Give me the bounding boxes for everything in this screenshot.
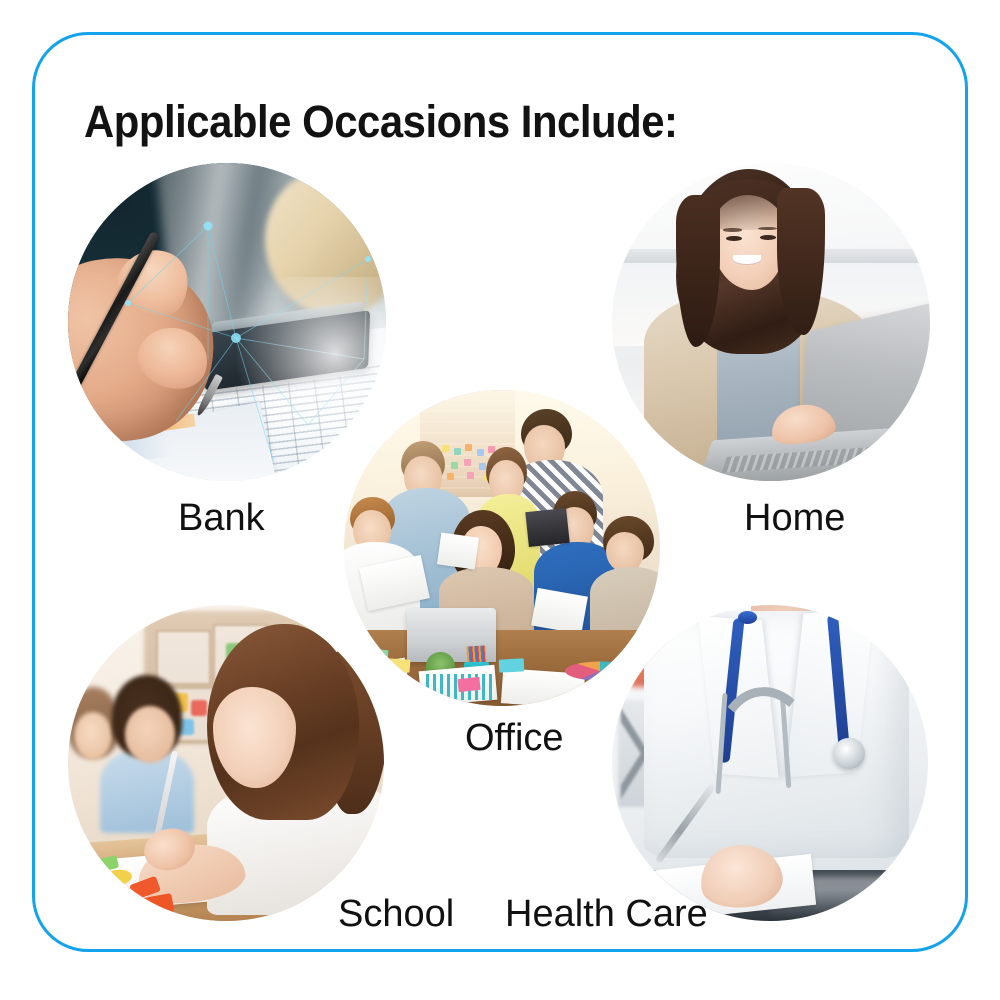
occasion-label-home: Home [744, 497, 845, 540]
occasion-image-bank [68, 163, 386, 481]
school-photo-icon [68, 605, 384, 921]
occasion-image-health-care [612, 605, 928, 921]
bank-photo-icon [68, 163, 386, 481]
occasion-label-bank: Bank [178, 497, 265, 540]
infographic-canvas: Applicable Occasions Include: [0, 0, 1000, 1000]
occasion-label-health-care: Health Care [505, 893, 708, 936]
occasion-label-office: Office [465, 717, 564, 760]
occasion-label-school: School [338, 893, 454, 936]
occasion-image-school [68, 605, 384, 921]
page-title: Applicable Occasions Include: [84, 96, 678, 148]
health-care-photo-icon [612, 605, 928, 921]
